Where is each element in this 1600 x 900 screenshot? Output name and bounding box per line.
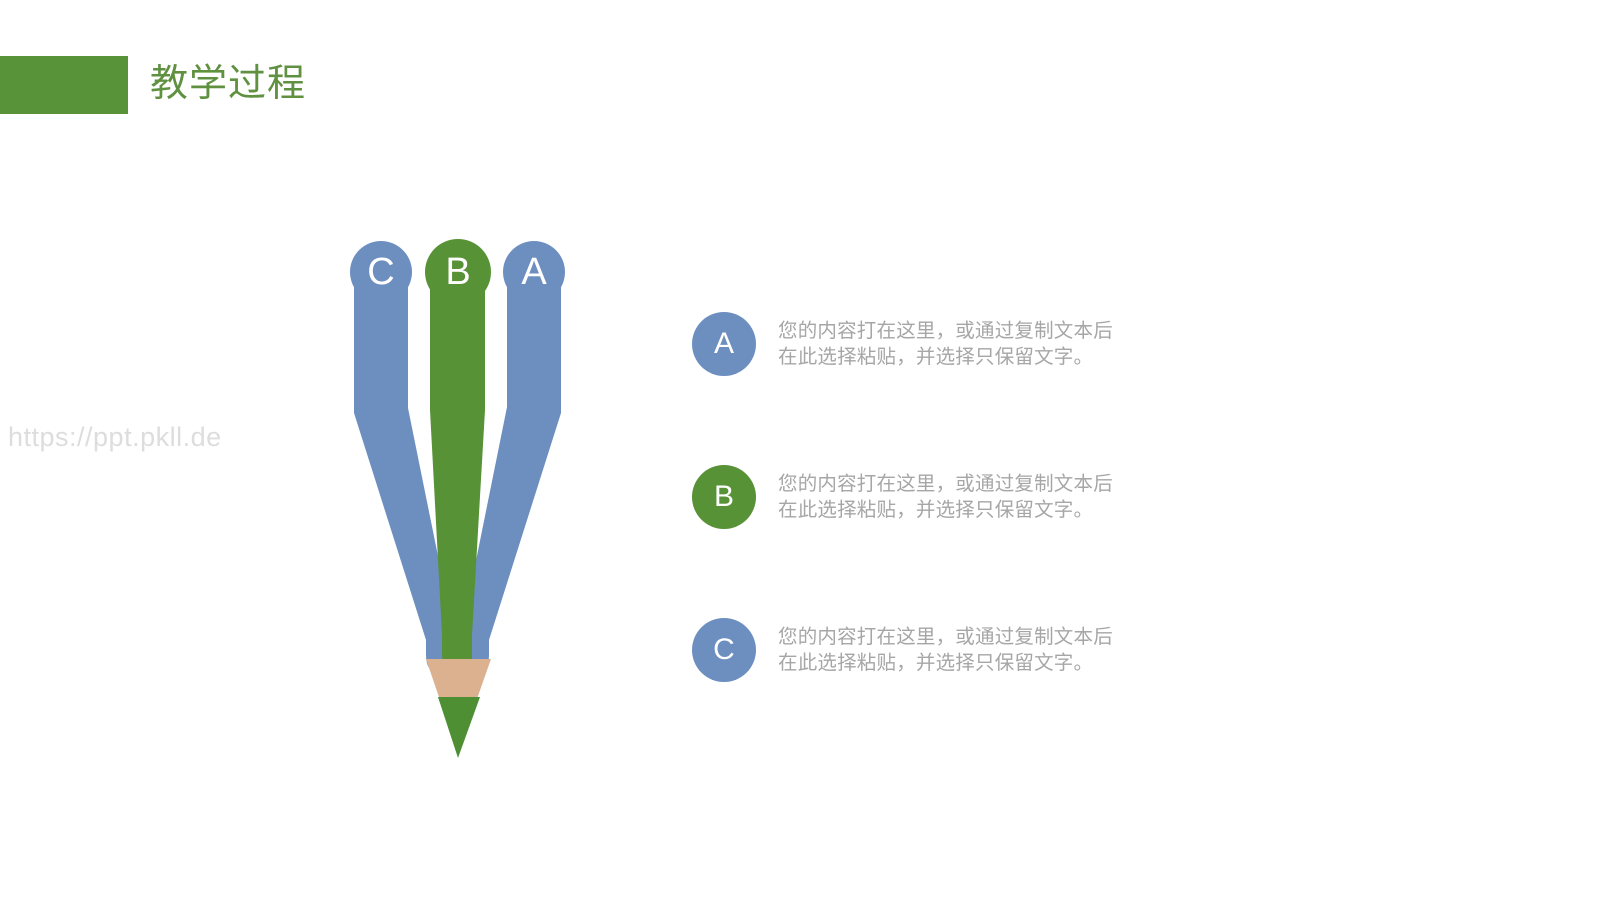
prong-label-a: A (521, 251, 547, 293)
bullet-text-c-line2: 在此选择粘贴，并选择只保留文字。 (778, 650, 1138, 676)
pencil-diagram: C B A (330, 225, 590, 780)
prong-label-c: C (367, 251, 394, 293)
slide-header: 教学过程 (0, 56, 420, 116)
header-accent-block (0, 56, 128, 114)
prong-label-b: B (445, 251, 470, 293)
bullet-text-a-line2: 在此选择粘贴，并选择只保留文字。 (778, 344, 1138, 370)
bullet-list: A 您的内容打在这里，或通过复制文本后 在此选择粘贴，并选择只保留文字。 B 您… (692, 312, 1162, 684)
bullet-text-b-line1: 您的内容打在这里，或通过复制文本后 (778, 471, 1138, 497)
bullet-badge-b: B (692, 465, 756, 529)
list-item[interactable]: A 您的内容打在这里，或通过复制文本后 在此选择粘贴，并选择只保留文字。 (692, 312, 1162, 378)
bullet-badge-a: A (692, 312, 756, 376)
watermark-url: https://ppt.pkll.de (8, 422, 222, 453)
page-title: 教学过程 (150, 54, 306, 114)
list-item[interactable]: C 您的内容打在这里，或通过复制文本后 在此选择粘贴，并选择只保留文字。 (692, 618, 1162, 684)
bullet-text-b: 您的内容打在这里，或通过复制文本后 在此选择粘贴，并选择只保留文字。 (778, 471, 1138, 523)
bullet-text-c-line1: 您的内容打在这里，或通过复制文本后 (778, 624, 1138, 650)
list-item[interactable]: B 您的内容打在这里，或通过复制文本后 在此选择粘贴，并选择只保留文字。 (692, 465, 1162, 531)
bullet-text-a-line1: 您的内容打在这里，或通过复制文本后 (778, 318, 1138, 344)
bullet-text-c: 您的内容打在这里，或通过复制文本后 在此选择粘贴，并选择只保留文字。 (778, 624, 1138, 676)
bullet-badge-c: C (692, 618, 756, 682)
bullet-text-b-line2: 在此选择粘贴，并选择只保留文字。 (778, 497, 1138, 523)
bullet-text-a: 您的内容打在这里，或通过复制文本后 在此选择粘贴，并选择只保留文字。 (778, 318, 1138, 370)
pencil-tip (438, 697, 480, 758)
